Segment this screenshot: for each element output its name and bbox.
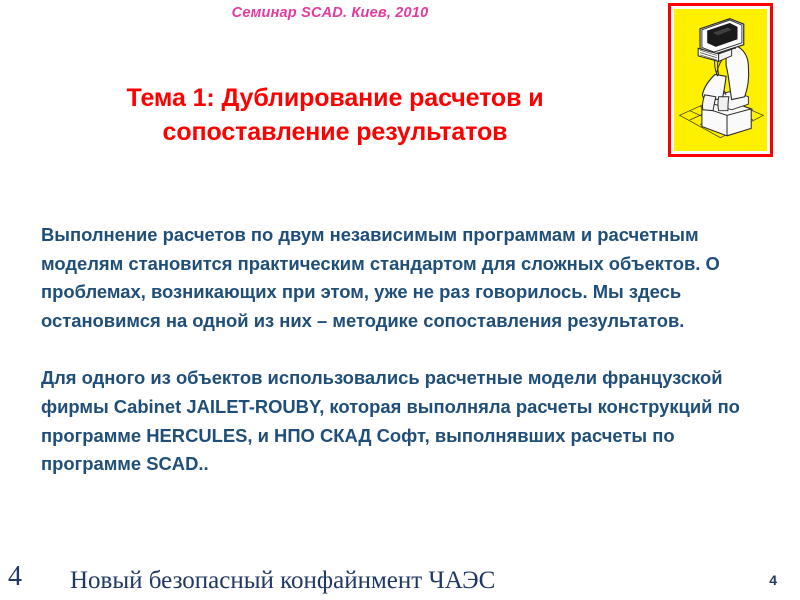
title-line-1: Тема 1: Дублирование расчетов и bbox=[40, 82, 630, 116]
paragraph-1: Выполнение расчетов по двум независимым … bbox=[41, 221, 741, 335]
slide: Семинар SCAD. Киев, 2010 bbox=[0, 0, 800, 600]
logo-frame bbox=[668, 3, 773, 157]
body-text: Выполнение расчетов по двум независимым … bbox=[41, 221, 741, 479]
footer-page-number-right: 4 bbox=[769, 573, 777, 587]
paragraph-2: Для одного из объектов использовались ра… bbox=[41, 364, 741, 478]
thinker-computer-icon bbox=[674, 9, 767, 151]
paragraph-spacer bbox=[41, 335, 741, 364]
footer-project-title: Новый безопасный конфайнмент ЧАЭС bbox=[70, 567, 495, 595]
title-line-2: сопоставление результатов bbox=[40, 116, 630, 150]
footer-page-number-left: 4 bbox=[8, 563, 22, 591]
footer: 4 Новый безопасный конфайнмент ЧАЭС 4 bbox=[0, 563, 800, 600]
seminar-header: Семинар SCAD. Киев, 2010 bbox=[0, 5, 660, 21]
page-title: Тема 1: Дублирование расчетов и сопостав… bbox=[40, 82, 630, 150]
